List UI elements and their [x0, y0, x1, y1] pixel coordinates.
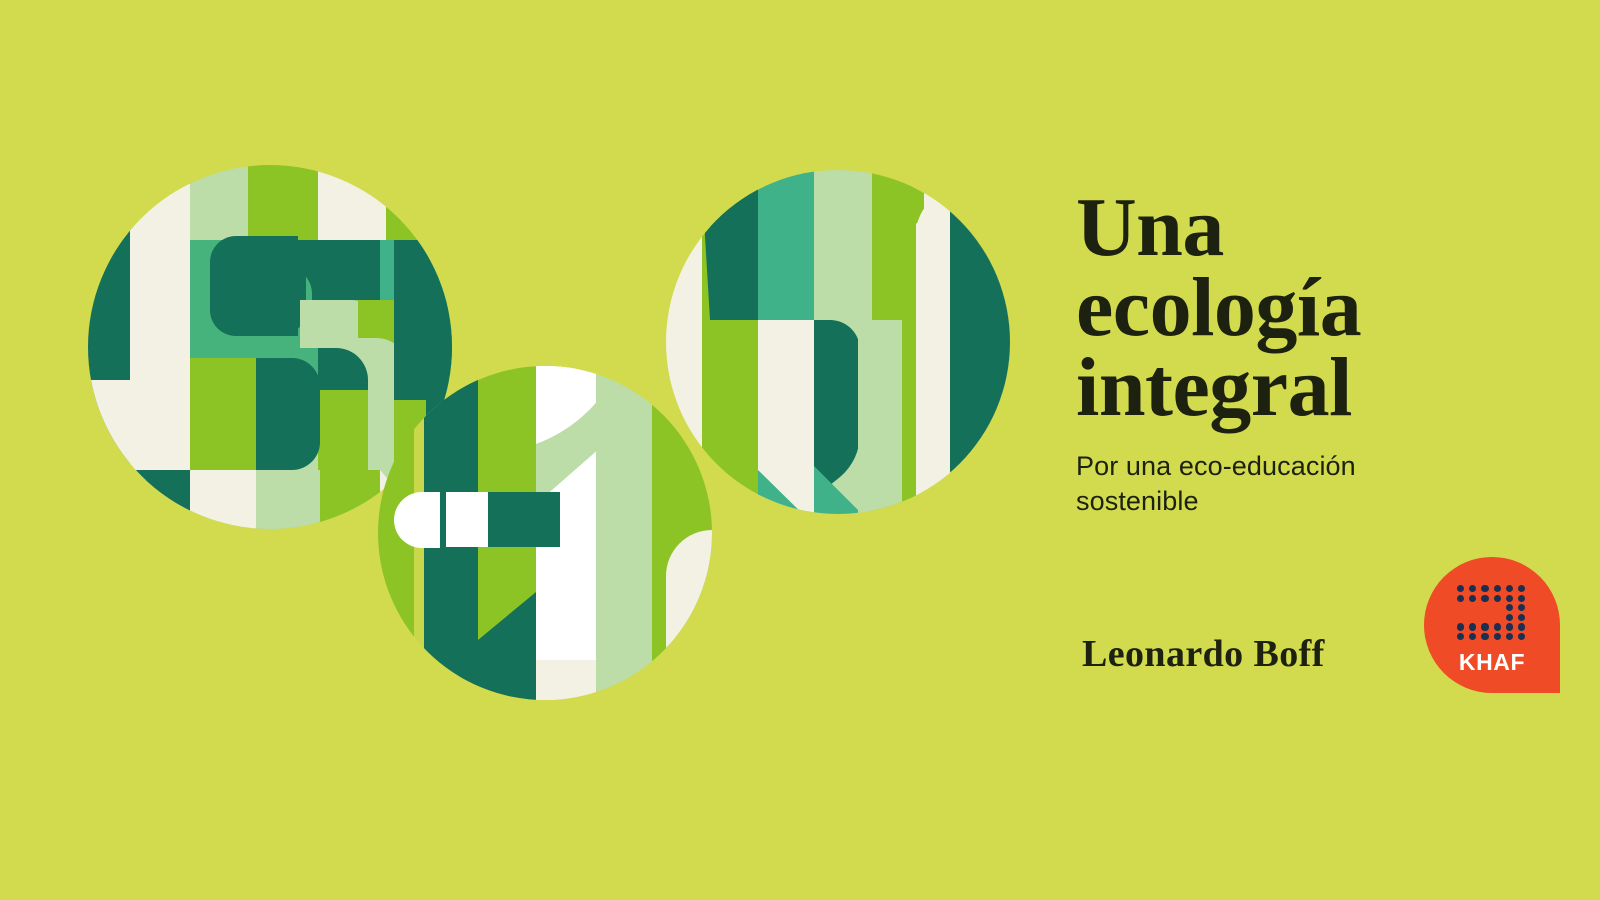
title-line-3: integral — [1076, 348, 1496, 428]
khaf-dot — [1481, 585, 1488, 592]
abstract-logo-artwork — [0, 0, 1050, 900]
khaf-dot — [1506, 604, 1513, 611]
khaf-dot — [1518, 614, 1525, 621]
khaf-dot — [1494, 595, 1501, 602]
khaf-dot-matrix-icon — [1457, 585, 1533, 645]
khaf-dot — [1469, 595, 1476, 602]
khaf-dot — [1457, 623, 1464, 630]
khaf-dot — [1518, 604, 1525, 611]
title-line-2: ecología — [1076, 268, 1496, 348]
khaf-dot — [1506, 585, 1513, 592]
book-cover-poster: Una ecología integral Por una eco-educac… — [0, 0, 1600, 900]
khaf-dot — [1518, 633, 1525, 640]
khaf-dot — [1469, 623, 1476, 630]
cover-text-block: Una ecología integral Por una eco-educac… — [1076, 188, 1496, 518]
khaf-dot — [1457, 633, 1464, 640]
khaf-dot — [1506, 633, 1513, 640]
khaf-dot — [1481, 633, 1488, 640]
khaf-dot — [1518, 623, 1525, 630]
khaf-dot — [1494, 585, 1501, 592]
khaf-dot — [1469, 585, 1476, 592]
khaf-logo[interactable]: KHAF — [1424, 557, 1560, 693]
title-line-1: Una — [1076, 188, 1496, 268]
author-name: Leonardo Boff — [1082, 632, 1325, 676]
khaf-dot — [1494, 633, 1501, 640]
khaf-dot — [1518, 585, 1525, 592]
khaf-dot — [1481, 623, 1488, 630]
khaf-dot — [1481, 595, 1488, 602]
khaf-dot — [1457, 595, 1464, 602]
khaf-dot — [1457, 585, 1464, 592]
khaf-dot — [1469, 633, 1476, 640]
right-circle — [660, 165, 1010, 525]
khaf-dot — [1506, 595, 1513, 602]
khaf-dot — [1518, 595, 1525, 602]
khaf-dot — [1494, 623, 1501, 630]
page-title: Una ecología integral — [1076, 188, 1496, 427]
subtitle: Por una eco-educación sostenible — [1076, 449, 1436, 518]
khaf-dot — [1506, 623, 1513, 630]
khaf-wordmark: KHAF — [1424, 649, 1560, 676]
khaf-dot — [1506, 614, 1513, 621]
